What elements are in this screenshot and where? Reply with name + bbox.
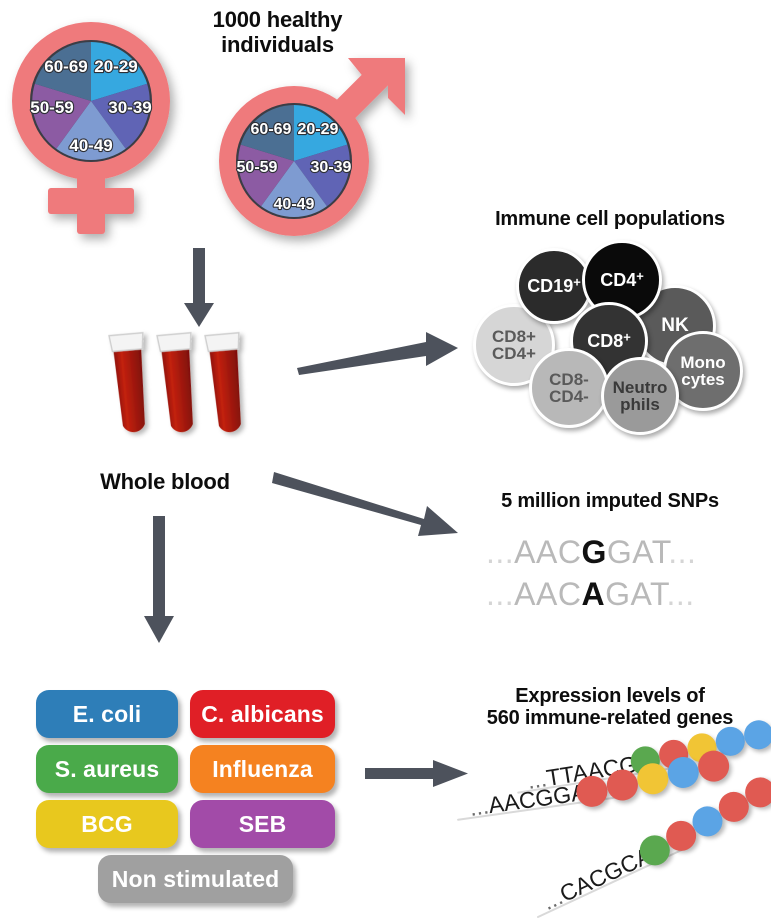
arrow-stimulations-to-expression [365, 757, 470, 791]
snp-lead-dots-2: ... [486, 576, 514, 612]
male-pie-label-40-49: 40-49 [274, 196, 315, 213]
snp-variant-2: A [581, 576, 605, 612]
cell-label-cd8: CD8+ [587, 332, 631, 350]
snp-trail-dots-1: ... [668, 534, 696, 570]
snp-sequence-row-1: ...AACGGAT... [486, 534, 696, 571]
snps-heading: 5 million imputed SNPs [460, 490, 760, 512]
stimulation-label-c-albicans: C. albicans [201, 701, 324, 728]
cell-label-neutrophils: Neutro phils [613, 379, 668, 414]
male-pie-label-60-69: 60-69 [251, 121, 292, 138]
female-pie-label-40-49: 40-49 [69, 136, 112, 155]
stimulation-label-non-stimulated: Non stimulated [112, 866, 280, 893]
figure-canvas: 1000 healthy individuals [0, 0, 771, 922]
male-pie-label-30-39: 30-39 [311, 159, 352, 176]
whole-blood-tubes [95, 330, 285, 455]
female-gender-symbol: 20-29 30-39 40-49 50-59 60-69 [4, 12, 194, 242]
female-pie-label-50-59: 50-59 [30, 98, 73, 117]
stimulation-label-e-coli: E. coli [73, 701, 141, 728]
cell-label-monocytes: Mono cytes [680, 354, 725, 389]
arrow-down-cohort-to-blood [180, 248, 218, 328]
snp-lead-dots-1: ... [486, 534, 514, 570]
immune-cell-populations-heading: Immune cell populations [455, 208, 765, 230]
arrow-blood-to-immune-cells [295, 325, 460, 375]
stimulation-pill-c-albicans[interactable]: C. albicans [190, 690, 335, 738]
female-pie-label-30-39: 30-39 [108, 98, 151, 117]
expression-heading: Expression levels of 560 immune-related … [455, 685, 765, 730]
stimulation-pill-bcg[interactable]: BCG [36, 800, 178, 848]
stimulation-pill-non-stimulated[interactable]: Non stimulated [98, 855, 293, 903]
snp-prefix-1: AAC [514, 534, 581, 570]
cohort-heading: 1000 healthy individuals [175, 8, 380, 57]
snp-sequence-block: ...AACGGAT... ...AACAGAT... [480, 528, 760, 623]
male-gender-symbol: 20-29 30-39 40-49 50-59 60-69 [202, 55, 417, 250]
immune-cell-population-group: NK CD19+ CD4+ CD8+ CD4+ CD8+ Mono cytes … [460, 240, 760, 435]
arrow-down-blood-to-stimulations [140, 516, 178, 644]
snp-suffix-2: GAT [605, 576, 666, 612]
stimulation-pill-seb[interactable]: SEB [190, 800, 335, 848]
snp-prefix-2: AAC [514, 576, 581, 612]
cell-label-cd4: CD4+ [600, 271, 644, 289]
snp-suffix-1: GAT [607, 534, 668, 570]
male-pie-label-20-29: 20-29 [298, 121, 339, 138]
cell-label-cd8-cd4-pos: CD8+ CD4+ [492, 328, 536, 363]
arrow-blood-to-snps [272, 450, 462, 540]
stimulation-label-influenza: Influenza [212, 756, 313, 783]
stimulation-pill-e-coli[interactable]: E. coli [36, 690, 178, 738]
male-pie-label-50-59: 50-59 [237, 159, 278, 176]
cell-label-cd8-cd4-neg: CD8- CD4- [549, 371, 589, 406]
stimulation-label-bcg: BCG [81, 811, 132, 838]
stimulation-label-s-aureus: S. aureus [55, 756, 159, 783]
stimulation-label-seb: SEB [239, 811, 287, 838]
whole-blood-label: Whole blood [70, 470, 260, 495]
cell-circle-neutrophils[interactable]: Neutro phils [601, 357, 679, 435]
cell-circle-cd8-cd4-neg[interactable]: CD8- CD4- [529, 348, 609, 428]
stimulation-pill-s-aureus[interactable]: S. aureus [36, 745, 178, 793]
snp-sequence-row-2: ...AACAGAT... [486, 576, 695, 613]
stimulation-pill-influenza[interactable]: Influenza [190, 745, 335, 793]
female-pie-label-20-29: 20-29 [94, 57, 137, 76]
female-pie-label-60-69: 60-69 [44, 57, 87, 76]
cell-label-cd19: CD19+ [527, 277, 581, 295]
snp-trail-dots-2: ... [666, 576, 694, 612]
snp-variant-1: G [581, 534, 606, 570]
cell-label-nk: NK [661, 316, 688, 335]
